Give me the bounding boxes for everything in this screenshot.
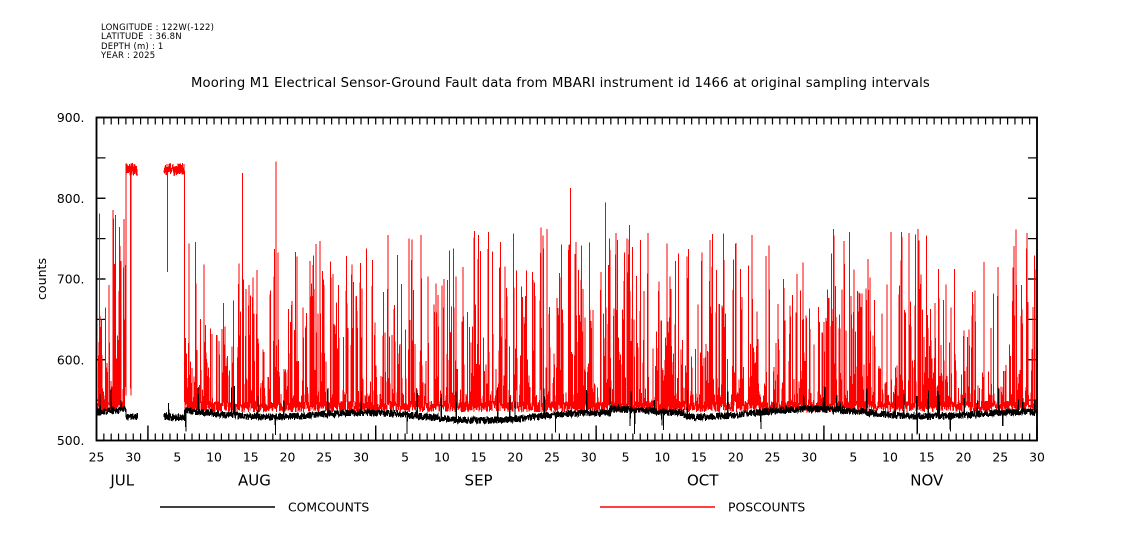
x-tick-label: 5	[173, 450, 181, 465]
x-tick-label: 30	[125, 450, 141, 465]
x-tick-label: 25	[316, 450, 332, 465]
x-tick-label: 20	[728, 450, 744, 465]
x-tick-label: 10	[882, 450, 898, 465]
x-tick-label: 25	[765, 450, 781, 465]
x-tick-label: 15	[691, 450, 707, 465]
y-tick-label: 900.	[57, 110, 85, 125]
x-tick-label: 10	[434, 450, 450, 465]
x-tick-label: 30	[581, 450, 597, 465]
x-tick-label: 30	[1029, 450, 1045, 465]
x-tick-label: 25	[544, 450, 560, 465]
x-month-label: JUL	[109, 472, 134, 490]
legend-label-comcounts: COMCOUNTS	[288, 500, 369, 515]
x-tick-label: 20	[507, 450, 523, 465]
y-tick-label: 700.	[57, 272, 85, 287]
x-tick-label: 5	[401, 450, 409, 465]
x-month-label: OCT	[687, 472, 719, 490]
x-month-label: NOV	[910, 472, 944, 490]
x-tick-label: 15	[471, 450, 487, 465]
y-axis-label: counts	[34, 258, 49, 300]
x-tick-label: 5	[849, 450, 857, 465]
x-tick-label: 20	[956, 450, 972, 465]
x-tick-label: 10	[206, 450, 222, 465]
x-tick-label: 5	[622, 450, 630, 465]
series-poscounts	[97, 162, 1038, 413]
legend-label-poscounts: POSCOUNTS	[728, 500, 805, 515]
chart-page: LONGITUDE : 122W(-122) LATITUDE : 36.8N …	[0, 0, 1121, 560]
x-tick-label: 20	[280, 450, 296, 465]
chart-svg: 900.800.700.600.500.counts25305101520253…	[0, 0, 1121, 560]
y-tick-label: 600.	[57, 352, 85, 367]
x-tick-label: 25	[992, 450, 1008, 465]
x-tick-label: 10	[654, 450, 670, 465]
x-tick-label: 30	[801, 450, 817, 465]
y-tick-label: 800.	[57, 191, 85, 206]
x-tick-label: 30	[353, 450, 369, 465]
x-tick-label: 15	[919, 450, 935, 465]
x-month-label: AUG	[238, 472, 271, 490]
y-tick-label: 500.	[57, 433, 85, 448]
x-tick-label: 15	[243, 450, 259, 465]
x-month-label: SEP	[465, 472, 493, 490]
x-tick-label: 25	[89, 450, 105, 465]
